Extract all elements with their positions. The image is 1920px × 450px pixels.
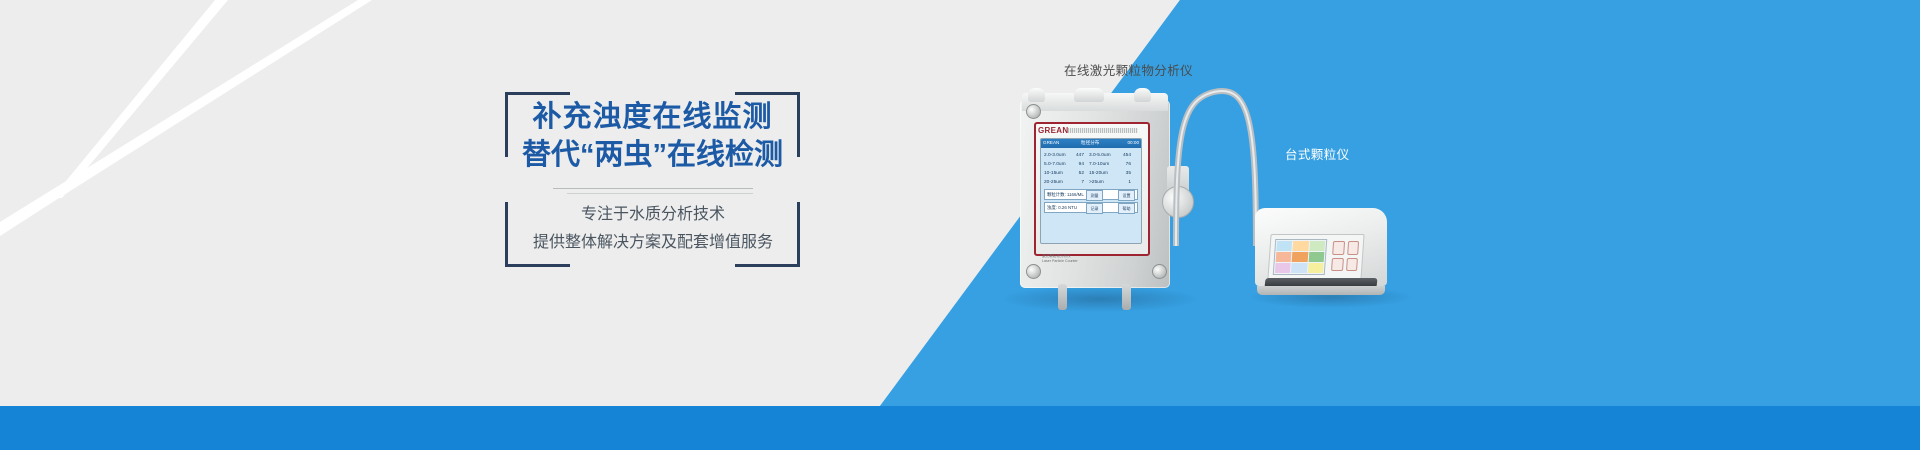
headline-line-1: 补充浊度在线监测 [485,98,820,136]
cell-range-a: 5.0-7.0um [1044,160,1070,169]
analyzer-knob-left [1028,88,1045,102]
screen-field-count: 颗粒计数: 1166/ML 测量 设置 [1044,189,1138,200]
cell-range-b: 3.0-5.0um [1089,151,1117,160]
cell-range-a: 10-15um [1044,169,1070,178]
benchtop-key[interactable] [1347,241,1359,255]
analyzer-brand-logo: GREAN [1038,126,1068,135]
screen-field-turbidity: 浊度: 0.26 NTU 记录 帮助 [1044,202,1138,213]
benchtop-screen[interactable] [1273,239,1328,275]
analyzer-knob-right [1134,88,1151,102]
cell-count-a: 447 [1070,151,1089,160]
analyzer-screw-bottom-right [1152,264,1167,279]
nameplate-en: Laser Particle Counter [1042,259,1078,264]
divider-line-lower [567,193,753,194]
cell-count-b: 35 [1117,169,1131,178]
decorative-rays [0,0,1920,450]
cell-count-a: 7 [1070,178,1089,187]
cell-count-a: 94 [1070,160,1089,169]
subtitle-line-1: 专注于水质分析技术 [497,204,809,226]
product-label-benchtop: 台式颗粒仪 [1285,144,1350,163]
analyzer-knob-center [1074,88,1104,102]
cell-range-b: 15-20um [1089,169,1117,178]
screen-title-center: 粒径分布 [1081,140,1099,146]
online-laser-particle-analyzer: GREAN GREAN 粒径分布 00:00 2.0-3.0um 447 3.0… [1012,88,1178,293]
screen-button-settings[interactable]: 设置 [1118,190,1135,201]
analyzer-foot-left [1058,284,1067,310]
screen-title-right: 00:00 [1128,140,1140,145]
cell-count-b: 1 [1117,178,1131,187]
screen-field-turbidity-value: 浊度: 0.26 NTU [1047,205,1077,210]
benchtop-particle-counter [1255,200,1395,305]
divider-line-upper [553,188,753,189]
analyzer-screw-top-left [1026,104,1041,119]
analyzer-vent-grill [1068,128,1138,133]
screen-field-count-value: 颗粒计数: 1166/ML [1047,192,1084,197]
connecting-tube [1168,78,1266,248]
table-row: 20-25um 7 >25um 1 [1044,178,1138,187]
product-label-online-analyzer: 在线激光颗粒物分析仪 [1064,60,1193,79]
cell-range-b: >25um [1089,178,1117,187]
table-row: 5.0-7.0um 94 7.0-10um 76 [1044,160,1138,169]
headline-panel: 补充浊度在线监测 替代“两虫”在线检测 专注于水质分析技术 提供整体解决方案及配… [505,92,800,267]
screen-button-measure[interactable]: 测量 [1086,190,1103,201]
table-row: 2.0-3.0um 447 3.0-5.0um 454 [1044,151,1138,160]
screen-title-left: GREAN [1043,140,1059,145]
screen-data-table: 2.0-3.0um 447 3.0-5.0um 454 5.0-7.0um 94… [1041,148,1141,187]
cell-count-b: 76 [1117,160,1131,169]
screen-button-help[interactable]: 帮助 [1118,203,1135,214]
headline-line-2: 替代“两虫”在线检测 [485,136,820,174]
subtitle-line-2: 提供整体解决方案及配套增值服务 [497,232,809,254]
cell-range-b: 7.0-10um [1089,160,1117,169]
benchtop-key[interactable] [1331,258,1343,272]
analyzer-foot-right [1122,284,1131,310]
analyzer-display-screen[interactable]: GREAN 粒径分布 00:00 2.0-3.0um 447 3.0-5.0um… [1040,138,1142,244]
benchtop-key[interactable] [1346,258,1358,272]
benchtop-control-panel [1267,234,1364,280]
benchtop-key[interactable] [1332,241,1344,255]
cell-count-b: 454 [1117,151,1131,160]
cell-range-a: 2.0-3.0um [1044,151,1070,160]
screen-button-record[interactable]: 记录 [1086,203,1103,214]
benchtop-keypad[interactable] [1331,241,1359,271]
screen-title-bar: GREAN 粒径分布 00:00 [1041,139,1141,148]
cell-count-a: 52 [1070,169,1089,178]
analyzer-nameplate: 激光颗粒物分析仪 Laser Particle Counter [1042,254,1078,264]
analyzer-screw-bottom-left [1026,264,1041,279]
benchtop-base [1257,286,1385,295]
promo-banner: 补充浊度在线监测 替代“两虫”在线检测 专注于水质分析技术 提供整体解决方案及配… [0,0,1920,450]
headline: 补充浊度在线监测 替代“两虫”在线检测 [485,98,820,174]
table-row: 10-15um 52 15-20um 35 [1044,169,1138,178]
cell-range-a: 20-25um [1044,178,1070,187]
